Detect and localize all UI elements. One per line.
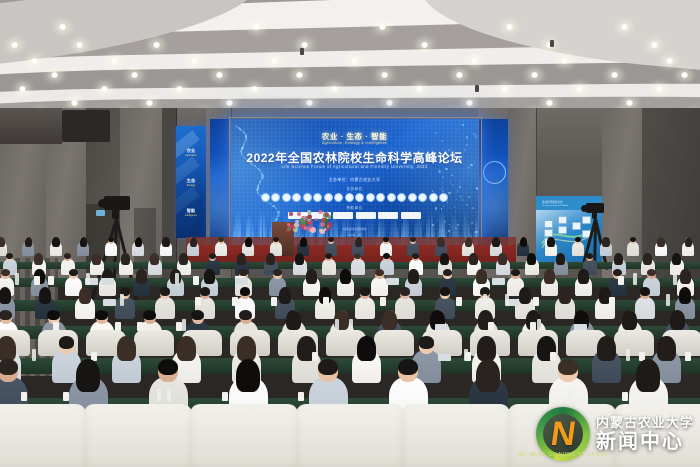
water-bottle [666, 294, 670, 306]
audience-member [321, 252, 337, 275]
audience-member [350, 334, 383, 383]
ceiling-light [620, 24, 629, 30]
university-logo-icon: N NEI MENG GU NONG YE DA XUE [536, 407, 590, 461]
ceiling-light [530, 72, 539, 78]
water-bottle [167, 389, 171, 401]
laptop [235, 278, 248, 285]
audience-member [524, 252, 540, 275]
ceiling-light [110, 58, 119, 64]
ceiling-light [380, 72, 389, 78]
ceiling-light [610, 72, 619, 78]
ceiling-light [465, 100, 474, 106]
side-led-left [210, 119, 230, 245]
ceiling-light [190, 58, 199, 64]
ceiling-light [350, 58, 359, 64]
ceiling-light [385, 100, 394, 106]
tea-cup [622, 392, 628, 401]
banner-word-1-en: Ecology [176, 184, 206, 187]
watermark: N NEI MENG GU NONG YE DA XUE 内蒙古农业大学 新闻中… [536, 407, 694, 461]
ceiling-light [10, 42, 19, 48]
audience-chair [296, 404, 404, 467]
laptop [492, 278, 505, 285]
ceiling-light [130, 72, 139, 78]
ceiling-speaker [550, 40, 554, 47]
water-bottle [182, 319, 186, 331]
tea-cup [193, 276, 199, 285]
audience-member [104, 236, 118, 256]
watermark-dept: 新闻中心 [596, 432, 694, 452]
tea-cup [232, 297, 238, 306]
left-vertical-banner: 农业 Agriculture 生态 Ecology 智能 Intelligenc… [176, 126, 206, 238]
watermark-org: 内蒙古农业大学 [596, 416, 694, 429]
audience-chair [190, 404, 298, 467]
audience-member [336, 268, 355, 296]
banner-word-2-en: Intelligence [176, 214, 206, 217]
water-bottle [175, 273, 179, 285]
ceiling [0, 0, 700, 120]
tea-cup [195, 297, 201, 306]
ceiling-light [58, 24, 67, 30]
side-led-right [479, 119, 508, 245]
ceiling-light [225, 100, 234, 106]
ceiling-light [655, 86, 664, 92]
ceiling-speaker [475, 85, 479, 92]
water-bottle [157, 389, 161, 401]
water-bottle [86, 273, 90, 285]
tea-cup [271, 297, 277, 306]
ceiling-light [152, 42, 161, 48]
flower-arrangement [286, 210, 330, 232]
ceiling-light [500, 86, 509, 92]
ceiling-light [455, 72, 464, 78]
tea-cup [298, 392, 304, 401]
ceiling-light [18, 86, 27, 92]
ceiling-light [545, 100, 554, 106]
ceiling-light [575, 86, 584, 92]
tea-cup [618, 276, 624, 285]
tea-cup [63, 392, 69, 401]
ceiling-light [470, 58, 479, 64]
audience-member [590, 334, 623, 383]
audience-member [354, 286, 376, 319]
ceiling-light [330, 86, 339, 92]
ceiling-light [625, 100, 634, 106]
water-bottle [32, 349, 36, 361]
ceiling-light [215, 72, 224, 78]
conference-hall-photo: 农业 Agriculture 生态 Ecology 智能 Intelligenc… [0, 0, 700, 467]
audience-chair [84, 404, 192, 467]
laptop [386, 278, 399, 285]
ceiling-light [145, 100, 154, 106]
right-banner-subheading: Life Science Research Platform [542, 205, 568, 207]
right-banner-heading: 生命科学研究平台 [542, 200, 563, 204]
water-bottle [120, 294, 124, 306]
laptop [101, 278, 114, 285]
audience-member [627, 236, 641, 256]
tea-cup [222, 392, 228, 401]
ceiling-light [50, 72, 59, 78]
ceiling-light [252, 24, 261, 30]
ceiling-light [30, 58, 39, 64]
audience-member [114, 286, 136, 319]
ceiling-light [415, 86, 424, 92]
tea-cup [456, 297, 462, 306]
water-bottle [483, 294, 487, 306]
audience-chair [0, 404, 86, 467]
ceiling-light [100, 86, 109, 92]
logo-letter: N [548, 417, 577, 451]
screen-bezel [229, 117, 482, 249]
logo-motto: NEI MENG GU NONG YE DA XUE [518, 452, 609, 458]
water-bottle [15, 273, 19, 285]
tea-cup [48, 276, 54, 285]
ceiling-light [75, 42, 84, 48]
ceiling-light [680, 72, 689, 78]
ceiling-light [175, 86, 184, 92]
tea-cup [533, 297, 539, 306]
audience-member [654, 236, 668, 256]
tea-cup [609, 297, 615, 306]
ceiling-light [270, 58, 279, 64]
ceiling-light [665, 58, 674, 64]
ceiling-light [420, 42, 429, 48]
water-bottle [505, 294, 509, 306]
water-bottle [633, 273, 637, 285]
ceiling-light [250, 86, 259, 92]
ceiling-light [560, 58, 569, 64]
laptop [438, 354, 451, 361]
laptop [103, 299, 116, 306]
tea-cup [380, 297, 386, 306]
ceiling-light [70, 100, 79, 106]
ceiling-light [505, 24, 514, 30]
audience-chair [402, 404, 510, 467]
ceiling-light [650, 42, 659, 48]
ceiling-light [378, 24, 387, 30]
ceiling-light [295, 72, 304, 78]
tea-cup [685, 352, 691, 361]
ceiling-speaker [300, 48, 304, 55]
banner-word-0-en: Agriculture [176, 154, 206, 157]
tea-cup [323, 297, 329, 306]
ceiling-light [305, 100, 314, 106]
tea-cup [21, 392, 27, 401]
audience-member [574, 268, 593, 296]
tea-cup [34, 276, 40, 285]
water-bottle [568, 389, 572, 401]
audience-member [110, 334, 143, 383]
water-bottle [673, 273, 677, 285]
